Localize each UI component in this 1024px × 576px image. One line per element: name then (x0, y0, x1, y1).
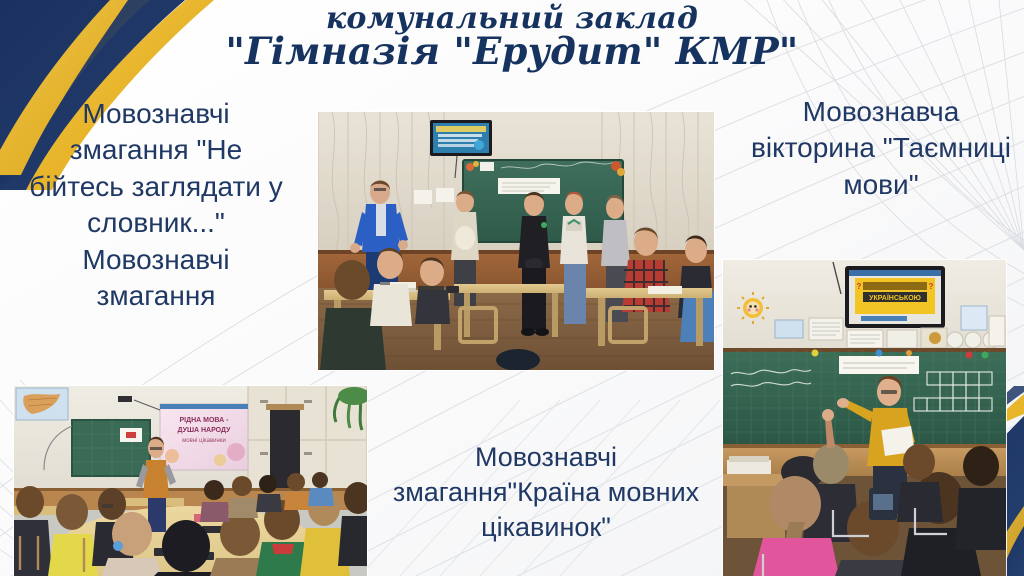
photo-bottom-left-graphic: РІДНА МОВА - ДУША НАРОДУ мовні цікавинки (14, 386, 367, 576)
svg-text:?: ? (857, 282, 862, 291)
slide-canvas: комунальний заклад "Гімназія "Ерудит" КМ… (0, 0, 1024, 576)
svg-text:ДУША НАРОДУ: ДУША НАРОДУ (178, 427, 232, 434)
svg-text:РІДНА МОВА -: РІДНА МОВА - (180, 417, 230, 424)
photo-right-classroom: УКРАЇНСЬКОЮ ? ? (723, 260, 1006, 576)
photo-right-graphic: УКРАЇНСЬКОЮ ? ? (723, 260, 1006, 576)
svg-text:мовні цікавинки: мовні цікавинки (182, 438, 226, 444)
photo-bottom-left-classroom: РІДНА МОВА - ДУША НАРОДУ мовні цікавинки (14, 386, 367, 576)
slide-title: комунальний заклад "Гімназія "Ерудит" КМ… (0, 0, 1024, 70)
photo-center-classroom (318, 112, 714, 370)
photo-center-graphic (318, 112, 714, 370)
svg-text:?: ? (929, 282, 934, 291)
caption-bottom-center: Мовознавчі змагання"Країна мовних цікави… (386, 440, 706, 545)
caption-right: Мовознавча вікторина "Таємниці мови" (746, 94, 1016, 203)
title-line-2: "Гімназія "Ерудит" КМР" (0, 33, 1024, 71)
svg-text:УКРАЇНСЬКОЮ: УКРАЇНСЬКОЮ (869, 294, 921, 302)
caption-left: Мовознавчі змагання "Не бійтесь заглядат… (22, 96, 290, 314)
